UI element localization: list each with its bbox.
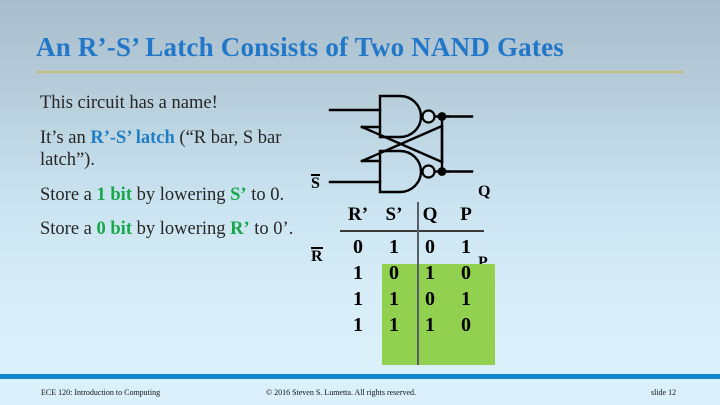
table-cell: 1 — [340, 286, 376, 312]
table-cell: 0 — [448, 260, 484, 286]
junction-dot-q — [438, 112, 447, 121]
table-header-row: R’ S’ Q P — [340, 202, 484, 231]
column-header-s-prime: S’ — [376, 202, 412, 231]
circuit-label-r-bar: R — [311, 247, 323, 266]
table-cell: 1 — [376, 286, 412, 312]
table-cell: 1 — [340, 260, 376, 286]
body-text-run: to 0’. — [250, 219, 294, 239]
page-title: An R’-S’ Latch Consists of Two NAND Gate… — [36, 32, 686, 63]
table-body: 0101101011011110 — [340, 231, 484, 338]
truth-table-container: R’ S’ Q P 0101101011011110 — [340, 202, 505, 372]
nand-latch-circuit-diagram: S R Q P — [300, 84, 520, 204]
table-cell: 1 — [376, 231, 412, 260]
junction-dot-p — [438, 167, 447, 176]
body-text-run: by lowering — [132, 219, 230, 239]
table-cell: 1 — [376, 312, 412, 338]
circuit-label-s-bar: S — [311, 174, 320, 193]
emphasis-green: S’ — [230, 185, 246, 205]
table-cell: 0 — [340, 231, 376, 260]
column-header-r-prime: R’ — [340, 202, 376, 231]
table-row: 0101 — [340, 231, 484, 260]
circuit-label-q: Q — [478, 183, 490, 201]
body-paragraph: It’s an R’-S’ latch (“R bar, S bar latch… — [40, 127, 312, 172]
emphasis-green: R’ — [230, 219, 250, 239]
footer-accent-bar — [0, 374, 720, 379]
table-cell: 0 — [376, 260, 412, 286]
body-text-run: This circuit has a name! — [40, 93, 218, 113]
inversion-bubble-bottom-icon — [423, 166, 435, 178]
s-bar-text: S — [311, 174, 320, 193]
table-cell: 1 — [448, 231, 484, 260]
emphasis-blue: R’-S’ latch — [90, 128, 174, 148]
nand-gate-bottom-body — [380, 151, 421, 192]
table-cell: 0 — [448, 312, 484, 338]
table-row: 1110 — [340, 312, 484, 338]
inversion-bubble-top-icon — [423, 111, 435, 123]
body-paragraph: Store a 1 bit by lowering S’ to 0. — [40, 184, 312, 207]
column-header-p: P — [448, 202, 484, 231]
title-divider-rule — [36, 71, 684, 73]
emphasis-green: 0 bit — [97, 219, 132, 239]
table-row: 1101 — [340, 286, 484, 312]
footer-copyright-text: © 2016 Steven S. Lumetta. All rights res… — [266, 388, 416, 397]
body-text-block: This circuit has a name! It’s an R’-S’ l… — [40, 92, 312, 241]
body-paragraph: This circuit has a name! — [40, 92, 312, 115]
footer-slide-number: slide 12 — [651, 388, 676, 397]
emphasis-green: 1 bit — [97, 185, 132, 205]
table-cell: 1 — [448, 286, 484, 312]
body-paragraph: Store a 0 bit by lowering R’ to 0’. — [40, 218, 312, 241]
body-text-run: It’s an — [40, 128, 90, 148]
table-row: 1010 — [340, 260, 484, 286]
body-text-run: Store a — [40, 185, 97, 205]
body-text-run: by lowering — [132, 185, 230, 205]
truth-table-vertical-divider — [417, 202, 419, 365]
slide-canvas: An R’-S’ Latch Consists of Two NAND Gate… — [0, 0, 720, 405]
table-cell: 1 — [340, 312, 376, 338]
body-text-run: Store a — [40, 219, 97, 239]
nand-gate-top-body — [380, 96, 421, 137]
footer-course-text: ECE 120: Introduction to Computing — [41, 388, 160, 397]
truth-table: R’ S’ Q P 0101101011011110 — [340, 202, 484, 338]
body-text-run: to 0. — [247, 185, 285, 205]
r-bar-text: R — [311, 247, 323, 266]
